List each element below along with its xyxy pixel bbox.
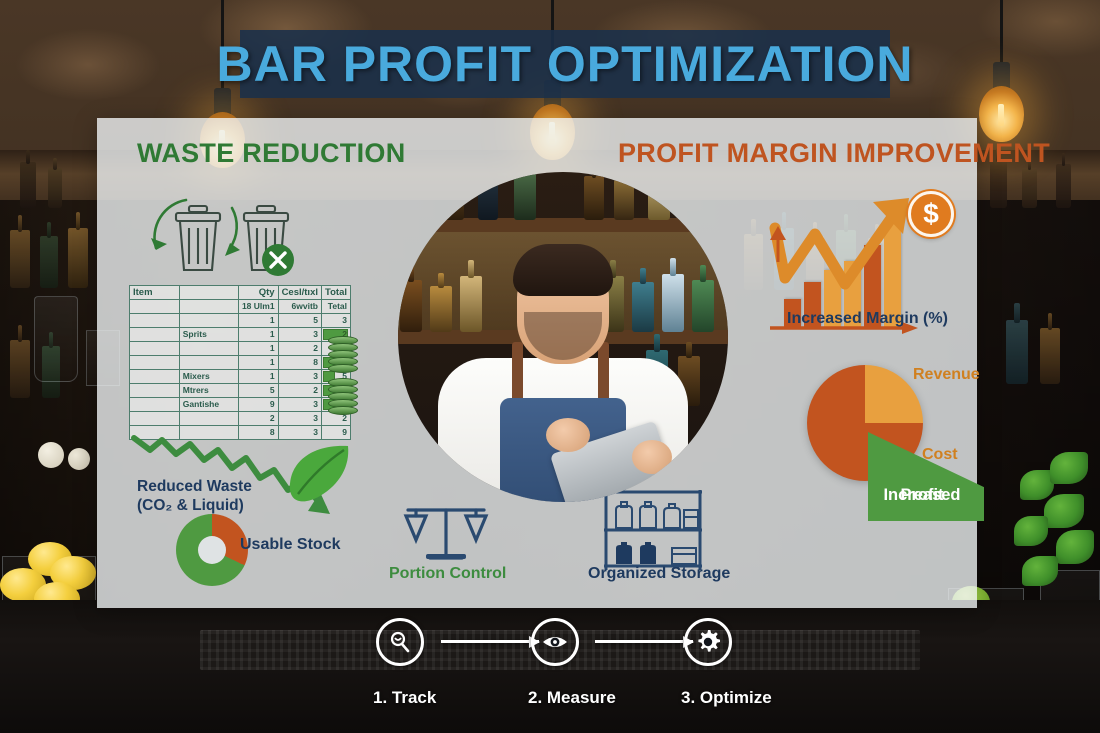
th-blank <box>179 286 238 300</box>
step-3-label: 3. Optimize <box>681 688 735 708</box>
table-row[interactable]: 123 <box>130 342 351 356</box>
photo-bottle <box>662 274 684 332</box>
backbar-bottle <box>10 230 30 288</box>
inventory-table[interactable]: Item Qty Cesl/tıxl Total 18 Ulm1 6wvitb … <box>129 285 351 440</box>
cell-marker <box>130 384 180 398</box>
recycle-trash-icon <box>134 186 314 282</box>
dollar-coin-icon: $ <box>908 191 954 237</box>
photo-bottle <box>692 280 714 332</box>
th2-item <box>130 300 180 314</box>
coin-stack-group <box>328 336 362 416</box>
photo-shelf-board <box>398 218 728 232</box>
reduced-waste-line1: Reduced Waste <box>137 478 252 495</box>
table-row[interactable]: Gantishe930 <box>130 398 351 412</box>
table-row[interactable]: Sprits132 <box>130 328 351 342</box>
shelf-bottle <box>48 168 62 208</box>
inventory-table-body: 153Sprits13212318Mixers135Mtrers520Ganti… <box>130 314 351 440</box>
process-step-3[interactable]: 3. Optimize <box>681 618 735 708</box>
cell-item: Gantishe <box>179 398 238 412</box>
reduced-waste-line2: (CO₂ & Liquid) <box>137 497 244 514</box>
shelf-bottle <box>1056 164 1071 208</box>
leaf-icon <box>282 442 356 506</box>
cell-marker <box>130 370 180 384</box>
bartender-hair <box>513 244 613 296</box>
cell-marker <box>130 398 180 412</box>
step-arrow-1 <box>441 640 539 643</box>
backbar-bottle <box>10 340 30 398</box>
cell-qty: 9 <box>238 398 278 412</box>
step-2-circle[interactable] <box>531 618 579 666</box>
cell-cost: 5 <box>278 314 321 328</box>
th2-total: Tetal <box>322 300 351 314</box>
increased-profit-label: Increased Profit <box>868 494 980 513</box>
profit-margin-heading: PROFIT MARGIN IMPROVEMENT <box>618 138 1050 169</box>
basil-leaf <box>1020 470 1054 500</box>
cell-marker <box>130 328 180 342</box>
increased-margin-label: Increased Margin (%) <box>787 310 948 328</box>
cell-marker <box>130 356 180 370</box>
cell-qty: 1 <box>238 328 278 342</box>
cell-qty: 1 <box>238 314 278 328</box>
table-row[interactable]: Mixers135 <box>130 370 351 384</box>
waste-reduction-heading: WASTE REDUCTION <box>137 138 406 169</box>
cell-qty: 5 <box>238 384 278 398</box>
bartender-hand-right <box>632 440 672 474</box>
revenue-label: Revenue <box>913 366 980 384</box>
process-steps: 1. Track 2. Measure 3. Optimize <box>355 618 755 710</box>
cell-cost: 8 <box>278 356 321 370</box>
chart-y-axis <box>766 222 790 262</box>
cell-total-value: 3 <box>342 315 347 325</box>
cell-cost: 3 <box>278 370 321 384</box>
shelf-bottle <box>1022 168 1037 208</box>
cell-item: Sprits <box>179 328 238 342</box>
cell-qty: 1 <box>238 342 278 356</box>
cell-item <box>179 314 238 328</box>
basil-leaf <box>1050 452 1088 484</box>
cell-cost: 3 <box>278 398 321 412</box>
shelf-bottle <box>20 162 36 208</box>
th-total: Total <box>322 286 351 300</box>
basil-leaf <box>1044 494 1084 528</box>
photo-bottle <box>460 276 482 332</box>
table-row[interactable]: Mtrers520 <box>130 384 351 398</box>
table-row[interactable]: 153 <box>130 314 351 328</box>
th-qty: Qty <box>238 286 278 300</box>
bulb-filament <box>998 104 1004 126</box>
cost-label: Cost <box>922 446 958 464</box>
eye-icon <box>541 632 569 652</box>
step-3-circle[interactable] <box>684 618 732 666</box>
balance-scale-icon <box>400 492 492 568</box>
profit-line-2: Profit <box>868 486 976 505</box>
organized-storage-label: Organized Storage <box>588 565 730 583</box>
recycle-trash-icon-group <box>134 186 314 287</box>
basil-leaf <box>1014 516 1048 546</box>
page-title: BAR PROFIT OPTIMIZATION <box>216 35 913 93</box>
trash-disabled-badge <box>262 244 294 276</box>
table-header-row-1: Item Qty Cesl/tıxl Total <box>130 286 351 300</box>
cell-cost: 2 <box>278 342 321 356</box>
table-header-row-2: 18 Ulm1 6wvitb Tetal <box>130 300 351 314</box>
photo-bottle <box>614 180 634 220</box>
step-2-label: 2. Measure <box>528 688 582 708</box>
photo-bottle <box>430 286 452 332</box>
cell-marker <box>130 342 180 356</box>
th2-blank <box>179 300 238 314</box>
bartender-hand-left <box>546 418 590 452</box>
cell-cost: 2 <box>278 384 321 398</box>
backbar-bottle <box>1006 320 1028 384</box>
glass-pitcher <box>34 296 78 382</box>
lamp-cord <box>1000 0 1003 64</box>
portion-control-label: Portion Control <box>389 565 506 583</box>
cell-marker <box>130 314 180 328</box>
cell-cost: 3 <box>278 328 321 342</box>
process-step-2[interactable]: 2. Measure <box>528 618 582 708</box>
th-item: Item <box>130 286 180 300</box>
decor-sphere <box>38 442 64 468</box>
backbar-bottle <box>68 228 88 288</box>
cell-item <box>179 412 238 426</box>
th2-qty: 18 Ulm1 <box>238 300 278 314</box>
photo-bottle <box>632 282 654 332</box>
photo-bottle <box>478 178 498 220</box>
cell-item <box>179 342 238 356</box>
basil-leaf <box>1022 556 1058 586</box>
reduced-waste-label: Reduced Waste (CO₂ & Liquid) <box>137 477 277 515</box>
cell-marker <box>130 412 180 426</box>
cell-item <box>179 356 238 370</box>
edison-bulb <box>979 86 1024 142</box>
magnifier-icon <box>388 630 412 654</box>
coin <box>328 406 358 415</box>
gear-icon <box>695 629 721 655</box>
cell-item: Mtrers <box>179 384 238 398</box>
cell-qty: 2 <box>238 412 278 426</box>
photo-bottle <box>416 180 436 220</box>
th-cost: Cesl/tıxl <box>278 286 321 300</box>
photo-bottle <box>400 280 422 332</box>
table-row[interactable]: 232 <box>130 412 351 426</box>
photo-bottle <box>514 172 536 220</box>
step-arrow-2 <box>595 640 693 643</box>
bartender-photo <box>398 172 728 502</box>
cell-qty: 1 <box>238 370 278 384</box>
photo-bottle <box>444 174 464 220</box>
cell-qty: 1 <box>238 356 278 370</box>
photo-bottle <box>584 176 604 220</box>
process-step-1[interactable]: 1. Track <box>373 618 427 708</box>
th2-cost: 6wvitb <box>278 300 321 314</box>
basil-leaf <box>1056 530 1094 564</box>
cell-item: Mixers <box>179 370 238 384</box>
table-row[interactable]: 18 <box>130 356 351 370</box>
usable-stock-label: Usable Stock <box>240 536 340 554</box>
photo-bottle <box>684 178 704 220</box>
decor-sphere <box>68 448 90 470</box>
photo-bottle <box>648 174 670 220</box>
cell-total: 3 <box>322 314 351 328</box>
usable-stock-donut-chart <box>176 514 248 586</box>
step-1-label: 1. Track <box>373 688 427 708</box>
infographic-canvas: BAR PROFIT OPTIMIZATION WASTE REDUCTION … <box>0 0 1100 733</box>
cell-cost: 3 <box>278 412 321 426</box>
backbar-bottle <box>1040 328 1060 384</box>
backbar-bottle <box>40 236 58 288</box>
step-1-circle[interactable] <box>376 618 424 666</box>
title-banner: BAR PROFIT OPTIMIZATION <box>240 30 890 98</box>
coin <box>328 364 358 373</box>
